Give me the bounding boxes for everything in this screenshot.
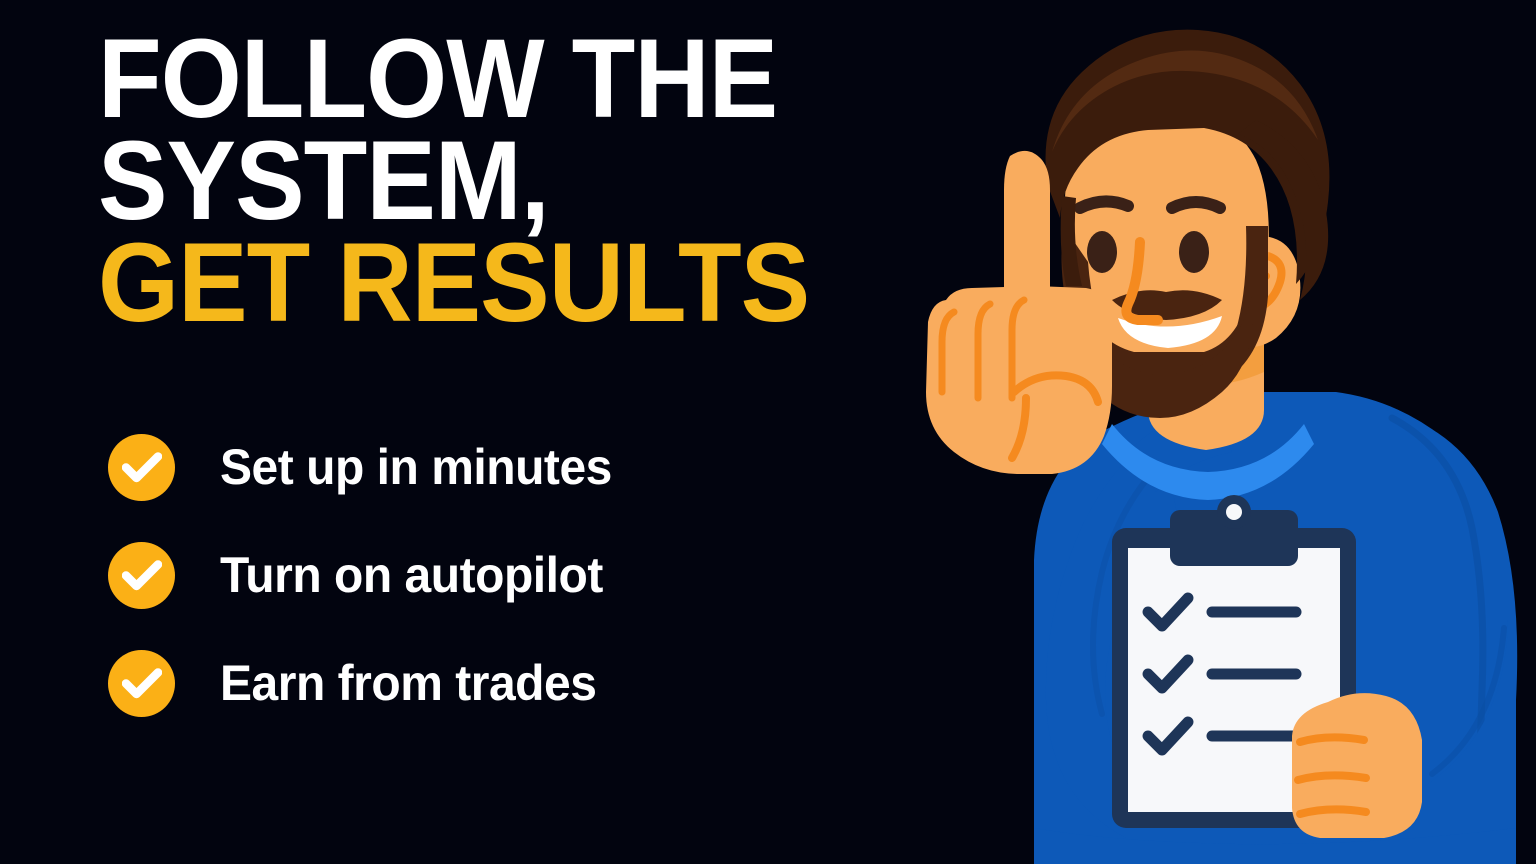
list-item-label: Turn on autopilot [220,549,603,601]
list-item: Set up in minutes [108,413,808,521]
check-icon [108,542,175,609]
bearded-man-illustration [916,0,1536,864]
headline-line-2: SYSTEM, [98,130,805,232]
list-item: Earn from trades [108,629,808,737]
benefits-list: Set up in minutes Turn on autopilot Earn… [108,413,808,737]
headline-line-3: GET RESULTS [98,232,805,334]
list-item-label: Earn from trades [220,657,596,709]
eye-left [1087,231,1117,273]
eye-right [1179,231,1209,273]
check-icon [108,650,175,717]
list-item-label: Set up in minutes [220,441,612,493]
list-item: Turn on autopilot [108,521,808,629]
check-icon [108,434,175,501]
eyebrow-right [1172,202,1220,208]
eyebrow-left [1080,201,1128,208]
headline-line-1: FOLLOW THE [98,28,805,130]
headline-block: FOLLOW THE SYSTEM, GET RESULTS [98,28,858,334]
gripping-hand [1292,693,1422,838]
banner-canvas: FOLLOW THE SYSTEM, GET RESULTS Set up in… [0,0,1536,864]
